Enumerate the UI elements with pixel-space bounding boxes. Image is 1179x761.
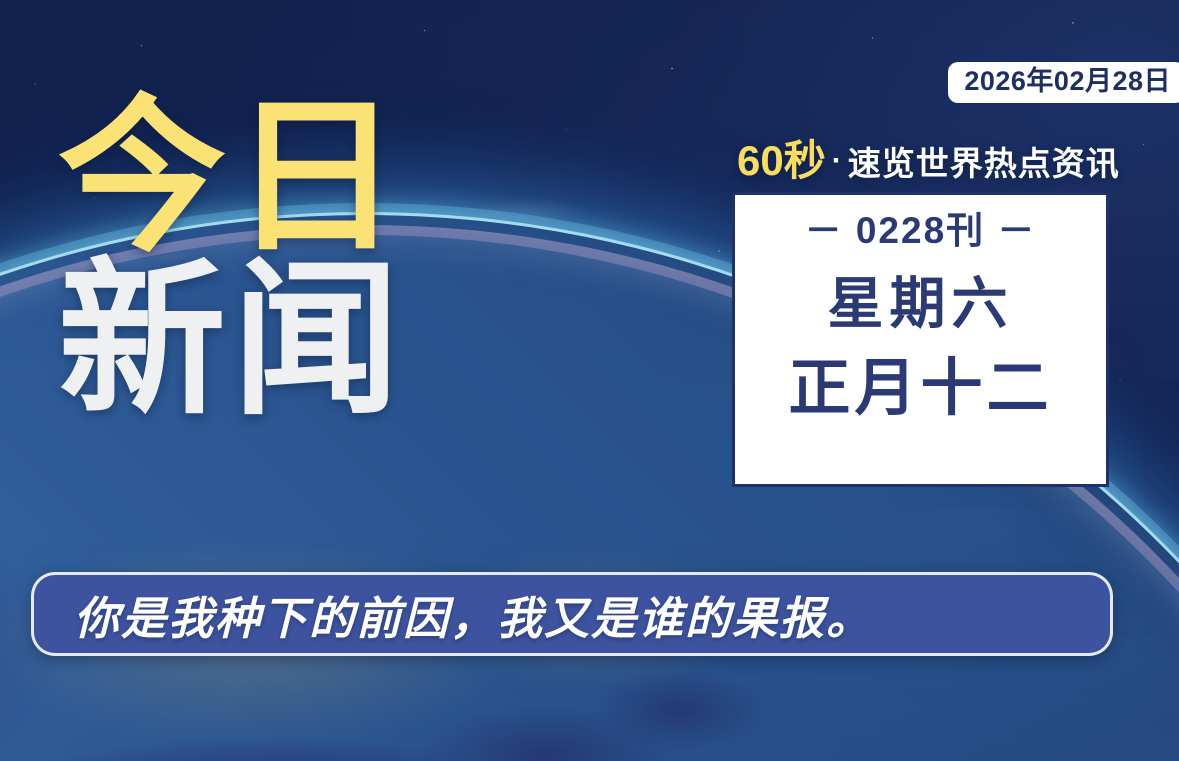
quote-text: 你是我种下的前因，我又是谁的果报。 <box>74 582 873 647</box>
page-title-line-1: 今日 <box>58 96 406 259</box>
issue-card: － 0228刊 － 星期六 正月十二 <box>732 192 1109 487</box>
page-title: 今日 新闻 <box>58 96 406 422</box>
poster-content: 2026年02月28日 今日 新闻 60秒·速览世界热点资讯 － 0228刊 －… <box>0 0 1179 761</box>
tagline-separator-icon: · <box>826 144 848 177</box>
tagline-seconds: 60秒 <box>737 137 826 184</box>
tagline: 60秒·速览世界热点资讯 <box>737 140 1120 182</box>
tagline-text: 速览世界热点资讯 <box>848 145 1120 182</box>
issue-number: － 0228刊 － <box>805 209 1037 253</box>
poster-canvas: 2026年02月28日 今日 新闻 60秒·速览世界热点资讯 － 0228刊 －… <box>0 0 1179 761</box>
quote-banner: 你是我种下的前因，我又是谁的果报。 <box>31 572 1113 656</box>
page-title-line-2: 新闻 <box>58 259 406 422</box>
weekday-label: 星期六 <box>828 273 1014 335</box>
date-badge: 2026年02月28日 <box>948 62 1179 103</box>
lunar-date-label: 正月十二 <box>788 355 1052 423</box>
